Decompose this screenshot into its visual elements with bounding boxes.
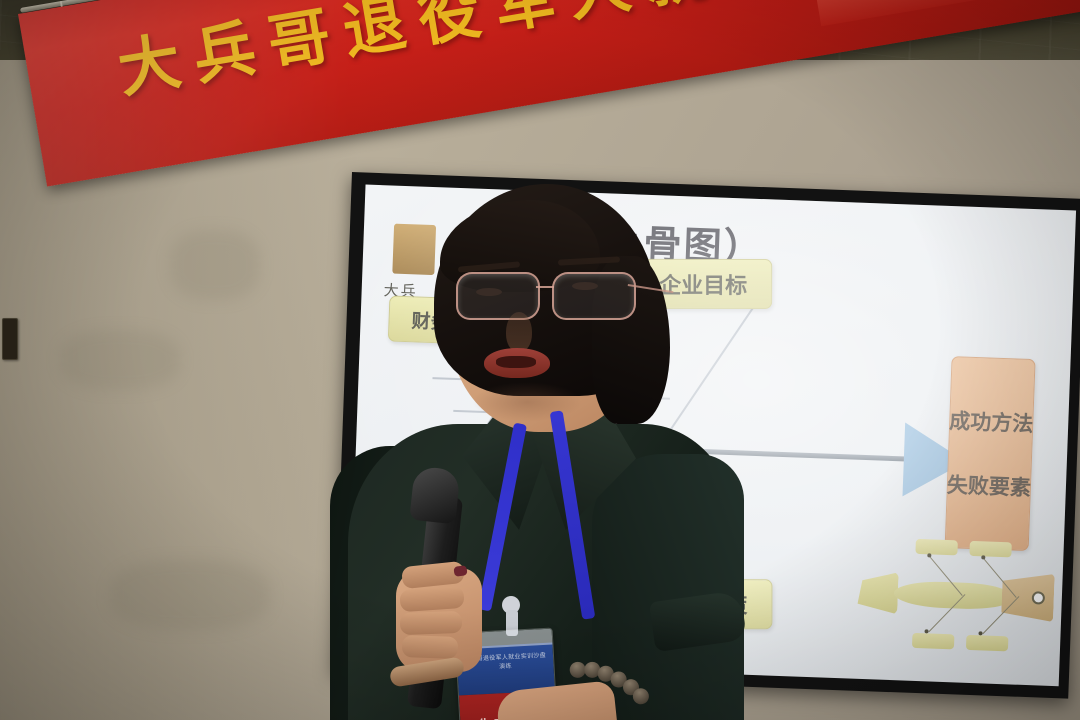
- finger-3: [400, 611, 463, 635]
- microphone-head[interactable]: [409, 466, 460, 525]
- finger-2: [399, 586, 464, 612]
- finger-4: [402, 635, 459, 659]
- fish-illustration-icon: [854, 533, 1058, 660]
- fish-label-1: [915, 539, 958, 556]
- eyeglass-bridge: [536, 286, 554, 288]
- eyeglass-lens-left: [456, 272, 540, 320]
- photo-scene: 大兵哥退役军人就业实训沙盘演 大兵 分享（鱼骨图） 财务决: [0, 0, 1080, 720]
- presenter-mouth: [496, 356, 536, 368]
- wall-smudge-3: [110, 560, 270, 630]
- presenter-chin-shadow: [472, 382, 582, 422]
- wall-smudge-1: [60, 330, 180, 390]
- eyeglasses-icon: [456, 272, 652, 320]
- fishbone-outcome-success-label: 成功方法: [949, 405, 1034, 438]
- wall-switch[interactable]: [2, 318, 18, 360]
- fish-label-2: [969, 541, 1012, 558]
- wall-smudge-2: [170, 230, 260, 300]
- eyeglass-lens-right: [552, 272, 636, 320]
- fish-label-4: [966, 635, 1009, 652]
- fishbone-outcome-failure-label: 失败要素: [946, 469, 1031, 502]
- presenter: 大兵哥退役军人就业实训沙盘演练 生产总监: [330, 196, 760, 720]
- fish-tail: [857, 571, 899, 614]
- fishbone-outcome-box: 成功方法 失败要素: [945, 356, 1036, 551]
- presenter-nose: [506, 312, 532, 352]
- fish-head: [1001, 572, 1055, 622]
- fish-label-3: [912, 633, 955, 650]
